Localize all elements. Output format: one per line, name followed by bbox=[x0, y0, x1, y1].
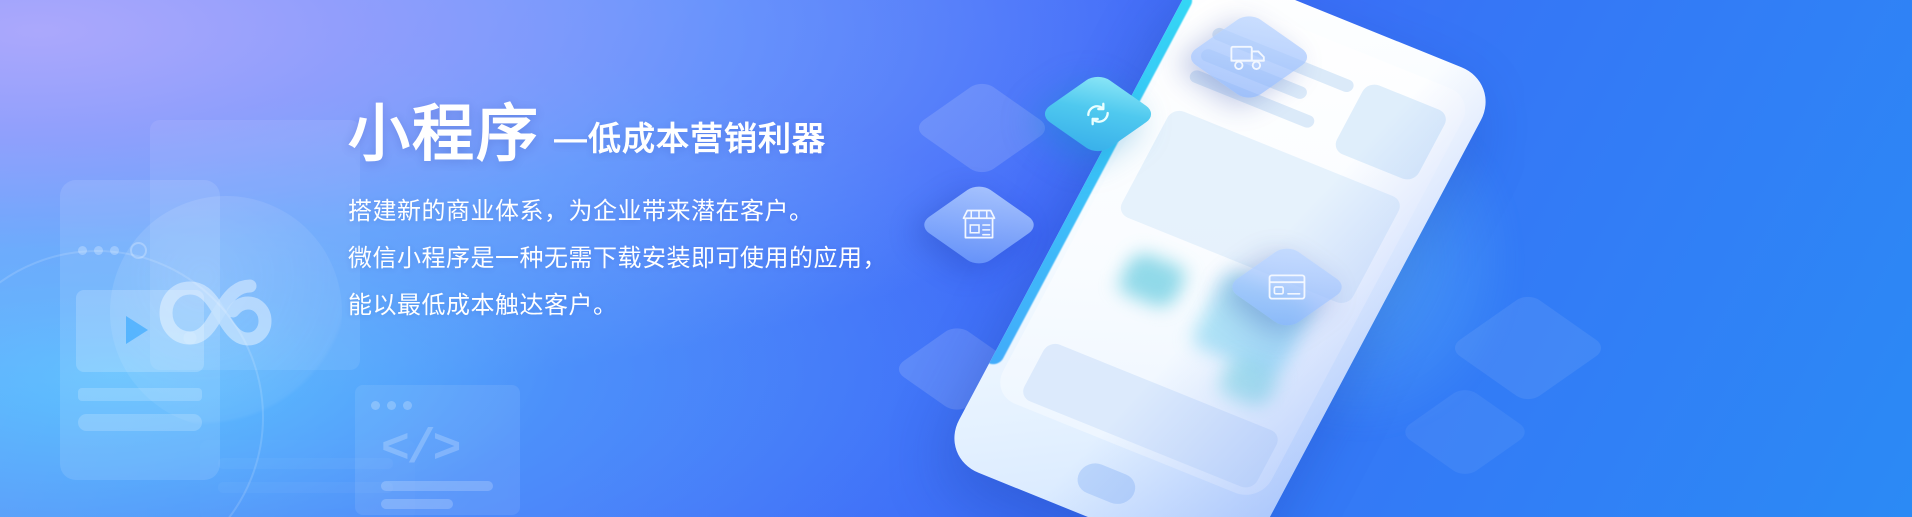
description-line: 能以最低成本触达客户。 bbox=[348, 288, 968, 324]
hero-illustration bbox=[880, 0, 1912, 517]
banner-description: 搭建新的商业体系，为企业带来潜在客户。 微信小程序是一种无需下载安装即可使用的应… bbox=[348, 194, 968, 324]
page-subtitle: —低成本营销利器 bbox=[554, 112, 826, 166]
decor-tile bbox=[912, 79, 1052, 177]
banner-heading: 小程序 —低成本营销利器 bbox=[348, 104, 968, 166]
sync-arrows-icon bbox=[1080, 96, 1117, 133]
description-line: 微信小程序是一种无需下载安装即可使用的应用， bbox=[348, 241, 968, 277]
storefront-icon bbox=[959, 206, 1000, 245]
wechat-miniprogram-icon bbox=[146, 230, 306, 390]
page-title: 小程序 bbox=[348, 104, 540, 166]
promo-banner: </> 小程序 —低成本营销利器 搭建新的商业体系，为企业带来潜在客户。 微信小… bbox=[0, 0, 1912, 517]
credit-card-icon bbox=[1267, 271, 1308, 304]
banner-copy: 小程序 —低成本营销利器 搭建新的商业体系，为企业带来潜在客户。 微信小程序是一… bbox=[348, 104, 968, 335]
description-line: 搭建新的商业体系，为企业带来潜在客户。 bbox=[348, 194, 968, 230]
delivery-truck-icon bbox=[1228, 38, 1271, 77]
list-watermark bbox=[200, 440, 415, 517]
miniprogram-logo-watermark bbox=[110, 196, 342, 428]
storefront-tile bbox=[917, 182, 1040, 268]
